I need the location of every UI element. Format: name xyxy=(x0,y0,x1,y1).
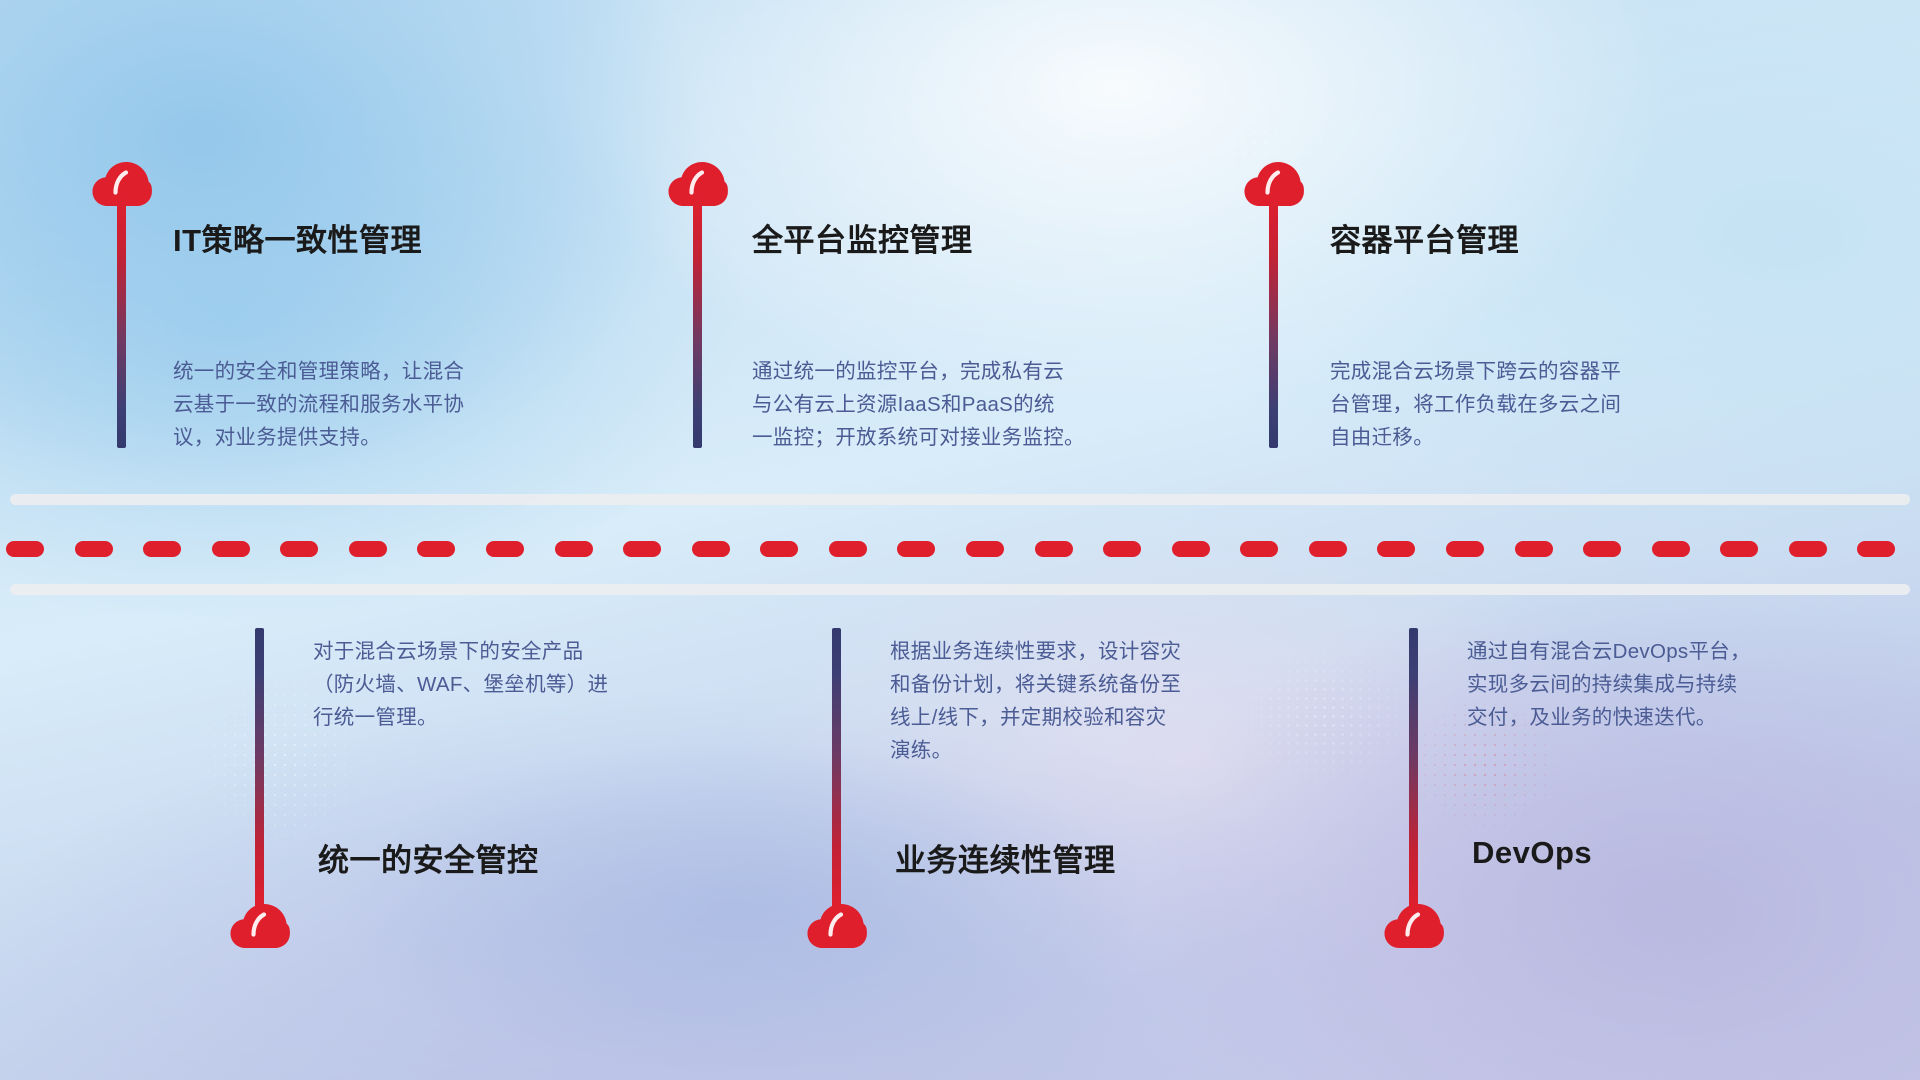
dash-segment xyxy=(897,541,935,557)
background-wash-middle xyxy=(330,740,1150,1080)
dash-segment xyxy=(486,541,524,557)
body-line: 通过统一的监控平台，完成私有云 xyxy=(752,355,1192,388)
card-body: 完成混合云场景下跨云的容器平 台管理，将工作负载在多云之间 自由迁移。 xyxy=(1330,355,1750,454)
cloud-icon xyxy=(806,903,868,949)
card-body: 对于混合云场景下的安全产品 （防火墙、WAF、堡垒机等）进 行统一管理。 xyxy=(313,635,743,734)
card-heading: 统一的安全管控 xyxy=(318,835,539,880)
dash-segment xyxy=(966,541,1004,557)
divider-rail-top xyxy=(10,494,1910,505)
timeline-stem xyxy=(255,628,264,910)
dash-segment xyxy=(555,541,593,557)
card-heading: DevOps xyxy=(1472,835,1592,871)
body-line: 交付，及业务的快速迭代。 xyxy=(1467,701,1887,734)
dash-segment xyxy=(1035,541,1073,557)
dash-segment xyxy=(1240,541,1278,557)
body-line: 云基于一致的流程和服务水平协 xyxy=(173,388,603,421)
dash-segment xyxy=(75,541,113,557)
body-line: （防火墙、WAF、堡垒机等）进 xyxy=(313,668,743,701)
dash-segment xyxy=(1446,541,1484,557)
body-line: 演练。 xyxy=(890,734,1320,767)
dash-segment xyxy=(1377,541,1415,557)
timeline-stem xyxy=(832,628,841,910)
dash-segment xyxy=(1720,541,1758,557)
card-heading: 全平台监控管理 xyxy=(752,215,973,260)
card-heading: IT策略一致性管理 xyxy=(173,215,422,260)
dash-segment xyxy=(692,541,730,557)
body-line: 完成混合云场景下跨云的容器平 xyxy=(1330,355,1750,388)
body-line: 一监控；开放系统可对接业务监控。 xyxy=(752,421,1192,454)
dash-segment xyxy=(1789,541,1827,557)
timeline-stem xyxy=(117,196,126,448)
card-heading: 业务连续性管理 xyxy=(895,835,1116,880)
body-line: 与公有云上资源IaaS和PaaS的统 xyxy=(752,388,1192,421)
cloud-icon xyxy=(229,903,291,949)
dash-segment xyxy=(1309,541,1347,557)
card-heading: 容器平台管理 xyxy=(1330,215,1519,260)
cloud-icon xyxy=(1383,903,1445,949)
dash-segment xyxy=(143,541,181,557)
dash-segment xyxy=(1172,541,1210,557)
dash-segment xyxy=(1103,541,1141,557)
dash-segment xyxy=(1652,541,1690,557)
timeline-stem xyxy=(693,196,702,448)
dash-segment xyxy=(417,541,455,557)
body-line: 和备份计划，将关键系统备份至 xyxy=(890,668,1320,701)
divider-rail-bottom xyxy=(10,584,1910,595)
body-line: 根据业务连续性要求，设计容灾 xyxy=(890,635,1320,668)
timeline-stem xyxy=(1409,628,1418,910)
card-body: 通过自有混合云DevOps平台， 实现多云间的持续集成与持续 交付，及业务的快速… xyxy=(1467,635,1887,734)
dash-segment xyxy=(6,541,44,557)
dashed-separator xyxy=(0,541,1920,557)
dash-segment xyxy=(1515,541,1553,557)
dash-segment xyxy=(280,541,318,557)
dash-segment xyxy=(212,541,250,557)
body-line: 通过自有混合云DevOps平台， xyxy=(1467,635,1887,668)
dash-segment xyxy=(623,541,661,557)
card-body: 根据业务连续性要求，设计容灾 和备份计划，将关键系统备份至 线上/线下，并定期校… xyxy=(890,635,1320,767)
timeline-stem xyxy=(1269,196,1278,448)
body-line: 统一的安全和管理策略，让混合 xyxy=(173,355,603,388)
dash-segment xyxy=(829,541,867,557)
dash-segment xyxy=(1583,541,1621,557)
body-line: 行统一管理。 xyxy=(313,701,743,734)
dash-segment xyxy=(1857,541,1895,557)
dash-segment xyxy=(760,541,798,557)
body-line: 对于混合云场景下的安全产品 xyxy=(313,635,743,668)
body-line: 议，对业务提供支持。 xyxy=(173,421,603,454)
card-body: 通过统一的监控平台，完成私有云 与公有云上资源IaaS和PaaS的统 一监控；开… xyxy=(752,355,1192,454)
body-line: 实现多云间的持续集成与持续 xyxy=(1467,668,1887,701)
card-body: 统一的安全和管理策略，让混合 云基于一致的流程和服务水平协 议，对业务提供支持。 xyxy=(173,355,603,454)
body-line: 自由迁移。 xyxy=(1330,421,1750,454)
dash-segment xyxy=(349,541,387,557)
infographic-canvas: IT策略一致性管理 统一的安全和管理策略，让混合 云基于一致的流程和服务水平协 … xyxy=(0,0,1920,1080)
body-line: 台管理，将工作负载在多云之间 xyxy=(1330,388,1750,421)
body-line: 线上/线下，并定期校验和容灾 xyxy=(890,701,1320,734)
